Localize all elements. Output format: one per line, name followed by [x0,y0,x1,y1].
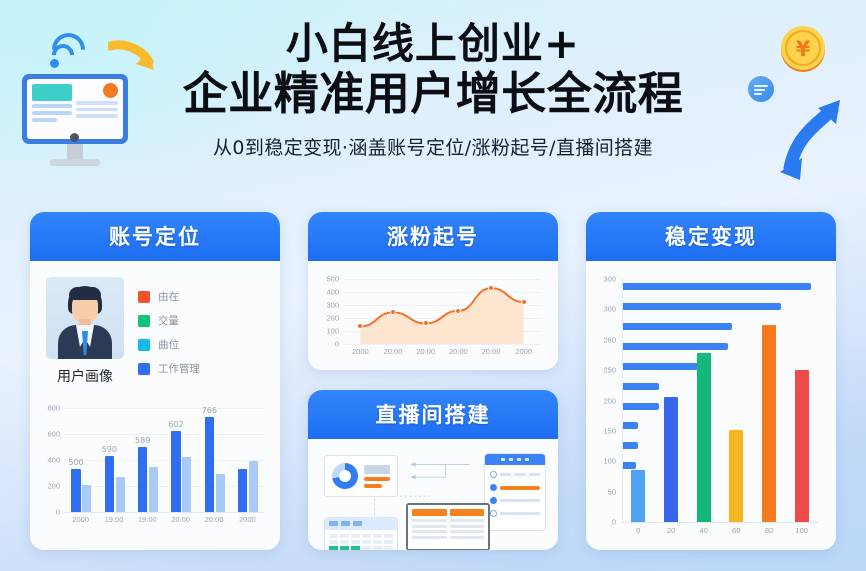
y-axis-label: 400 [40,456,60,465]
revenue-combo-chart: 050100150200250260300300020406080100 [596,271,826,540]
card-fans-growth[interactable]: 涨粉起号 0100200300400500200020:0020:0020:00… [308,212,558,370]
data-point [423,320,429,326]
card-title-fans: 涨粉起号 [308,212,558,261]
y-axis-label: 150 [596,426,616,435]
y-axis [622,279,623,522]
table-panel [324,517,398,550]
card-body-fans: 0100200300400500200020:0020:0020:0020:00… [308,261,558,370]
x-axis-label: 20:00 [171,515,190,524]
bar-value-label: 589 [135,436,150,445]
y-axis-label: 200 [596,396,616,405]
title-block: 小白线上创业+ 企业精准用户增长全流程 从0到稳定变现·涵盖账号定位/涨粉起号/… [0,18,866,160]
vertical-bar [762,325,776,522]
vertical-bar [664,397,678,522]
x-axis-label: 0 [636,526,640,535]
data-point [455,308,461,314]
page-subtitle: 从0到稳定变现·涵盖账号定位/涨粉起号/直播间搭建 [0,133,866,160]
horizontal-bar [623,303,781,310]
card-revenue[interactable]: 稳定变现 05010015020025026030030002040608010… [586,212,836,550]
bar [182,457,191,512]
x-axis-label: 20:00 [482,347,501,356]
card-body-revenue: 050100150200250260300300020406080100 [586,261,836,550]
x-axis-label: 20 [667,526,675,535]
avatar-caption: 用户画像 [46,366,124,386]
legend-item: 由在 [138,289,200,304]
bar [116,477,125,512]
x-axis [622,522,818,523]
x-axis-label: 40 [699,526,707,535]
bar [205,417,214,512]
x-axis-label: 2000 [352,347,369,356]
avatar [46,277,124,359]
bar-value-label: 500 [68,458,83,467]
list-panel [484,453,546,531]
data-point [488,285,494,291]
card-title-revenue: 稳定变现 [586,212,836,261]
bar [238,469,247,512]
bar [105,456,114,512]
horizontal-bar [623,462,636,469]
card-account-positioning[interactable]: 账号定位 用户画像 由在 [30,212,280,550]
vertical-bar [795,370,809,522]
card-body-live [308,439,558,550]
bar-value-label: 766 [202,406,217,415]
x-axis-label: 20:00 [384,347,403,356]
y-axis-label: 600 [40,430,60,439]
laptop-icon [406,503,490,550]
bar-value-label: 602 [168,420,183,429]
card-title-account: 账号定位 [30,212,280,261]
card-title-live: 直播间搭建 [308,390,558,439]
data-point [521,299,527,305]
x-axis-label: 100 [795,526,808,535]
y-axis-label: 50 [596,487,616,496]
x-axis-label: 20:00 [449,347,468,356]
x-axis [64,512,264,513]
legend-item: 交量 [138,313,200,328]
bar [149,467,158,513]
legend-label: 曲位 [158,337,179,352]
x-axis-label: 80 [765,526,773,535]
x-axis-label: 2000 [239,515,256,524]
legend-label: 工作管理 [158,361,200,376]
bar [82,485,91,512]
live-studio-illustration [318,447,548,542]
y-axis-label: 300 [596,305,616,314]
fans-line-chart: 0100200300400500200020:0020:0020:0020:00… [318,271,548,360]
gridline [64,460,264,461]
y-axis-label: 100 [596,457,616,466]
x-axis-label: 20:00 [205,515,224,524]
bar-value-label: 590 [102,445,117,454]
gridline [64,486,264,487]
account-bar-chart: 0200400600800500200059019:0058919:006022… [40,392,270,528]
horizontal-bar [623,422,638,429]
horizontal-bar [623,383,659,390]
page-title-line2: 企业精准用户增长全流程 [0,67,866,122]
card-body-account: 用户画像 由在 交量 曲位 [30,261,280,550]
x-axis-label: 60 [732,526,740,535]
y-axis-label: 250 [596,366,616,375]
horizontal-bar [623,323,732,330]
legend-label: 交量 [158,313,179,328]
gridline [64,434,264,435]
y-axis-label: 300 [596,275,616,284]
bar [249,461,258,512]
donut-chart-icon [332,463,358,489]
y-axis-label: 200 [40,482,60,491]
x-axis-label: 19:00 [105,515,124,524]
data-point [390,309,396,315]
bar [216,474,225,512]
bar [171,431,180,512]
y-axis-label: 800 [40,404,60,413]
y-axis-label: 0 [596,518,616,527]
bar [71,469,80,512]
legend-swatch [138,363,150,375]
x-axis-label: 2000 [72,515,89,524]
chart-legend-account: 由在 交量 曲位 工作管理 [138,277,200,386]
gridline [64,408,264,409]
vertical-bar [729,430,743,522]
legend-label: 由在 [158,289,179,304]
legend-item: 曲位 [138,337,200,352]
page-title-line1: 小白线上创业+ [0,18,866,69]
y-axis-label: 260 [596,335,616,344]
card-live-studio[interactable]: 直播间搭建 [308,390,558,550]
horizontal-bar [623,442,638,449]
analytics-panel [324,455,398,497]
vertical-bar [697,353,711,522]
x-axis-label: 19:00 [138,515,157,524]
legend-swatch [138,339,150,351]
x-axis-label: 2000 [515,347,532,356]
x-axis-label: 20:00 [416,347,435,356]
y-axis-label: 0 [40,508,60,517]
legend-item: 工作管理 [138,361,200,376]
horizontal-bar [623,403,659,410]
legend-swatch [138,315,150,327]
page-header: ¥ 小白线上创业+ 企业精准用户增长全流程 从0到稳定变现·涵盖账号定位/涨粉起… [0,0,866,205]
data-point [357,323,363,329]
horizontal-bar [623,283,811,290]
card-grid: 账号定位 用户画像 由在 [30,212,836,550]
legend-swatch [138,291,150,303]
horizontal-bar [623,343,728,350]
vertical-bar [631,470,645,522]
bar [138,447,147,512]
